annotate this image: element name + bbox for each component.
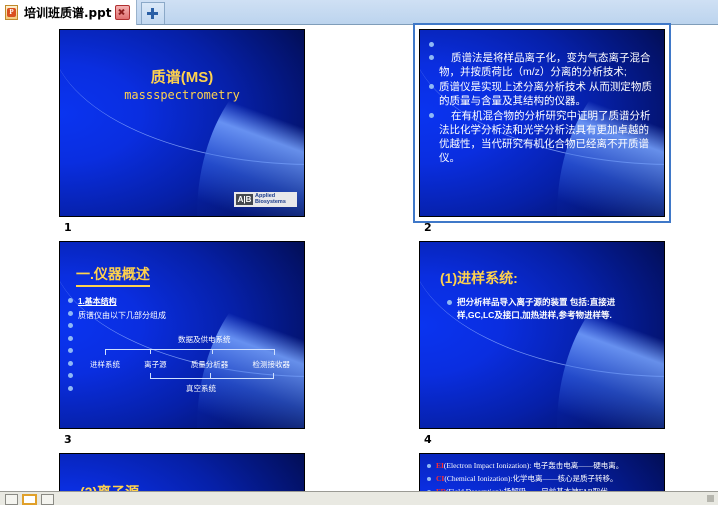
slide-thumbnail-4[interactable]: (1)进样系统: 把分析样品导入离子源的装置 包括:直接进样,GC,LC及接口,… [419,241,665,429]
diagram-bottom-label: 真空系统 [186,383,216,394]
decorative-wedge [197,264,305,428]
bullet-item: 质谱仪是实现上述分离分析技术 从而测定物质的质量与含量及其结构的仪器。 [428,80,658,108]
slide-thumbnail-1[interactable]: 质谱(MS) massspectrometry A|B Applied Bios… [59,29,305,217]
tab-title: 培训班质谱.ppt [24,4,111,21]
ionization-line: CI(Chemical Ionization):化学电离——核心是质子转移。 [426,473,660,484]
bullet-item: 质谱仪由以下几部分组成 [78,310,166,323]
slide-number-3: 3 [64,433,72,446]
tab-presentation[interactable]: P 培训班质谱.ppt [0,0,137,25]
slide-body-3: 1.基本结构 质谱仪由以下几部分组成 [78,296,166,323]
slide-title: 质谱(MS) [60,66,304,87]
bullet-item [428,38,658,50]
slide-canvas-3: 一.仪器概述 1.基本结构 质谱仪由以下几部分组成 数据及供电系统 [59,241,305,429]
slide-canvas-1: 质谱(MS) massspectrometry A|B Applied Bios… [59,29,305,217]
diagram-stage: 检测接收器 [252,359,290,370]
ab-logo-mark: A|B [236,194,253,205]
bullet-item: 把分析样品导入离子源的装置 包括:直接进样,GC,LC及接口,加热进样,参考物进… [446,296,644,322]
powerpoint-thumbnail-window: P 培训班质谱.ppt 质谱(MS) massspectrometry A|B … [0,0,718,505]
slide-body-4: 把分析样品导入离子源的装置 包括:直接进样,GC,LC及接口,加热进样,参考物进… [446,296,644,323]
slide-canvas-4: (1)进样系统: 把分析样品导入离子源的装置 包括:直接进样,GC,LC及接口,… [419,241,665,429]
slide-body-2: 质谱法是将样品离子化，变为气态离子混合物，并按质荷比（m/z）分离的分析技术; … [428,38,658,166]
slide-number-1: 1 [64,221,72,234]
ionization-code: EI [436,461,444,470]
bullet-markers [68,298,73,398]
plus-icon [147,12,158,15]
ab-logo-line2: Biosystems [255,200,286,206]
diagram-stage-row: 进样系统 离子源 质量分析器 检测接收器 [90,359,290,370]
ionization-desc: (Electron Impact Ionization): 电子轰击电离——硬电… [444,461,623,470]
new-tab-button[interactable] [141,2,165,24]
diagram-stage: 质量分析器 [191,359,229,370]
slide-title: (1)进样系统: [440,268,518,288]
toolbar-button-2-selected[interactable] [22,494,37,505]
diagram-stage: 离子源 [144,359,167,370]
diagram-stage: 进样系统 [90,359,120,370]
ionization-line: EI(Electron Impact Ionization): 电子轰击电离——… [426,460,660,471]
slide-number-4: 4 [424,433,432,446]
slide-canvas-2: 质谱法是将样品离子化，变为气态离子混合物，并按质荷比（m/z）分离的分析技术; … [419,29,665,217]
powerpoint-file-icon: P [5,5,20,21]
slide-number-2: 2 [424,221,432,234]
close-icon[interactable] [115,5,130,20]
bullet-item: 质谱法是将样品离子化，变为气态离子混合物，并按质荷比（m/z）分离的分析技术; [428,51,658,79]
bottom-toolbar [0,491,718,505]
slide-subtitle: massspectrometry [60,88,304,102]
tab-bar: P 培训班质谱.ppt [0,0,718,25]
bullet-item: 1.基本结构 [78,296,166,309]
slide-title: 一.仪器概述 [76,264,150,287]
decorative-wedge [557,264,665,428]
slide-thumbnail-2[interactable]: 质谱法是将样品离子化，变为气态离子混合物，并按质荷比（m/z）分离的分析技术; … [419,29,665,217]
diagram-top-label: 数据及供电系统 [178,334,231,345]
scrollbar-thumb[interactable] [707,495,714,502]
slide-thumbnail-3[interactable]: 一.仪器概述 1.基本结构 质谱仪由以下几部分组成 数据及供电系统 [59,241,305,429]
applied-biosystems-logo: A|B Applied Biosystems [234,192,297,207]
toolbar-button-3[interactable] [41,494,54,505]
slide-thumbnail-grid: 质谱(MS) massspectrometry A|B Applied Bios… [0,25,718,491]
ionization-desc: (Chemical Ionization):化学电离——核心是质子转移。 [444,474,617,483]
bullet-item: 在有机混合物的分析研究中证明了质谱分析法比化学分析法和光学分析法具有更加卓越的优… [428,109,658,165]
toolbar-button-1[interactable] [5,494,18,505]
